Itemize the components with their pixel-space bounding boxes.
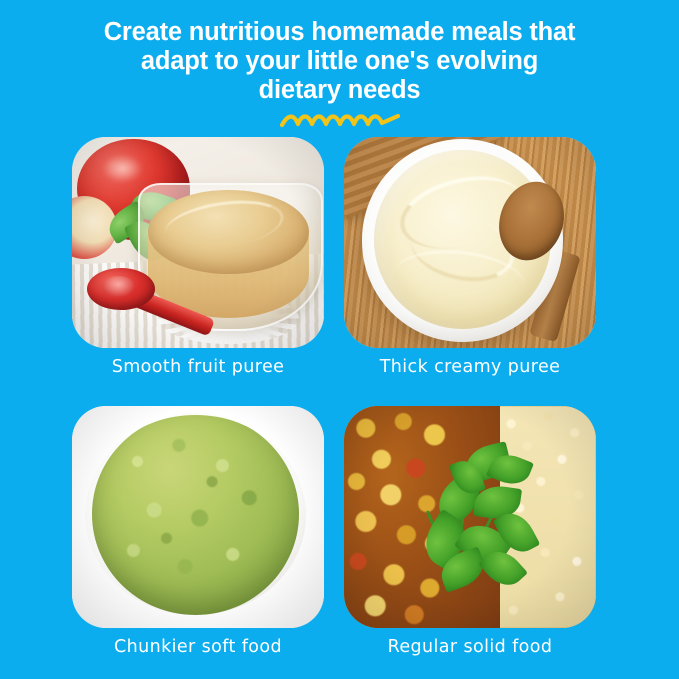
photo-chunkier-soft-food (72, 406, 324, 628)
headline-line-2: adapt to your little one's evolving (40, 47, 639, 76)
card-caption-3: Chunkier soft food (72, 637, 324, 658)
bowl-rim (72, 406, 319, 628)
infographic-poster: Create nutritious homemade meals that ad… (0, 0, 679, 679)
food-stage-card-2[interactable]: Thick creamy puree (344, 137, 596, 378)
squiggle-divider (0, 108, 679, 134)
card-caption-4: Regular solid food (344, 637, 596, 658)
food-stage-card-1[interactable]: Smooth fruit puree (72, 137, 324, 378)
apple-highlight (102, 154, 142, 184)
page-title: Create nutritious homemade meals that ad… (40, 18, 639, 105)
headline-line-1: Create nutritious homemade meals that (40, 18, 639, 47)
card-caption-1: Smooth fruit puree (72, 357, 324, 378)
photo-thick-creamy-puree (344, 137, 596, 348)
photo-smooth-fruit-puree (72, 137, 324, 348)
coriander-garnish (344, 406, 596, 628)
food-stage-card-3[interactable]: Chunkier soft food (72, 406, 324, 658)
squiggle-underline-icon (278, 110, 402, 132)
food-stage-card-4[interactable]: Regular solid food (344, 406, 596, 658)
card-caption-2: Thick creamy puree (344, 357, 596, 378)
headline-line-3: dietary needs (40, 76, 639, 105)
food-stage-grid: Smooth fruit puree Thick creamy puree (72, 137, 596, 661)
photo-regular-solid-food (344, 406, 596, 628)
